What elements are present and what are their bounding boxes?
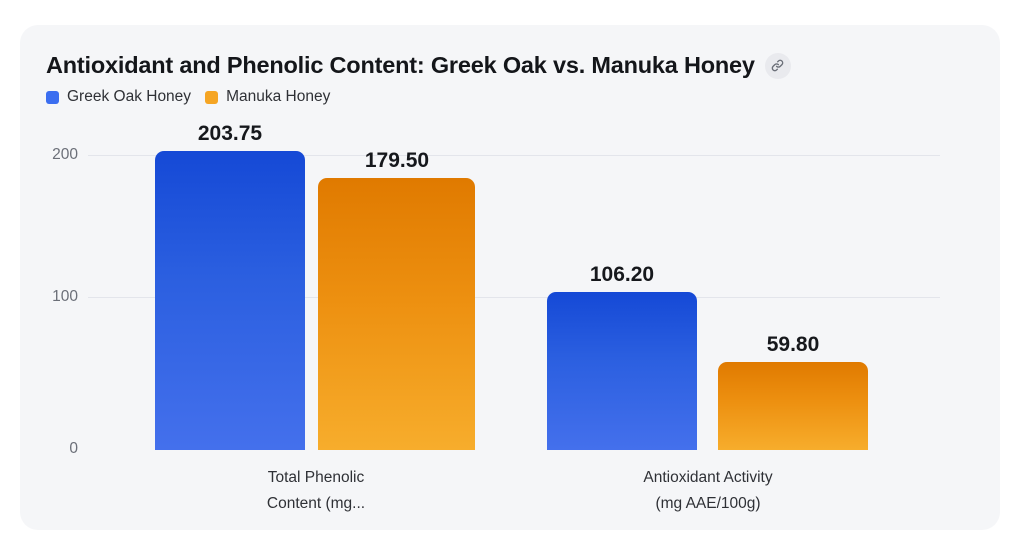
legend-label-greek-oak-honey: Greek Oak Honey [67,88,191,106]
bar-value-greek-oak-honey-total-phenolic: 203.75 [198,122,262,146]
x-axis-label-line-2: (mg AAE/100g) [655,495,760,512]
x-axis-label-line-1: Total Phenolic [268,469,365,486]
gridline-200 [88,155,940,156]
bar-value-greek-oak-honey-antioxidant-activity: 106.20 [590,263,654,287]
x-axis-label-total-phenolic-content: Total Phenolic Content (mg... [267,465,365,517]
legend-item-manuka-honey[interactable]: Manuka Honey [205,88,330,106]
bar-value-manuka-honey-total-phenolic: 179.50 [365,149,429,173]
gridline-100 [88,297,940,298]
y-axis-tick-0: 0 [18,440,78,458]
bar-greek-oak-honey-antioxidant-activity[interactable] [547,292,697,450]
x-axis-label-line-1: Antioxidant Activity [643,469,772,486]
x-axis-label-antioxidant-activity: Antioxidant Activity (mg AAE/100g) [643,465,772,517]
bar-greek-oak-honey-total-phenolic[interactable] [155,151,305,450]
legend-swatch-greek-oak-honey [46,91,59,104]
screenshot-root: Antioxidant and Phenolic Content: Greek … [0,0,1021,553]
y-axis-tick-100: 100 [18,288,78,306]
link-chain-icon[interactable] [765,53,791,79]
legend-label-manuka-honey: Manuka Honey [226,88,330,106]
x-axis-label-line-2: Content (mg... [267,495,365,512]
legend-item-greek-oak-honey[interactable]: Greek Oak Honey [46,88,191,106]
bar-manuka-honey-total-phenolic[interactable] [318,178,475,450]
bar-manuka-honey-antioxidant-activity[interactable] [718,362,868,450]
bar-value-manuka-honey-antioxidant-activity: 59.80 [767,333,820,357]
page-title: Antioxidant and Phenolic Content: Greek … [46,52,755,79]
chart-legend: Greek Oak Honey Manuka Honey [46,88,330,106]
legend-swatch-manuka-honey [205,91,218,104]
chart-header: Antioxidant and Phenolic Content: Greek … [46,52,980,79]
y-axis-tick-200: 200 [18,146,78,164]
chart-card: Antioxidant and Phenolic Content: Greek … [20,25,1000,530]
